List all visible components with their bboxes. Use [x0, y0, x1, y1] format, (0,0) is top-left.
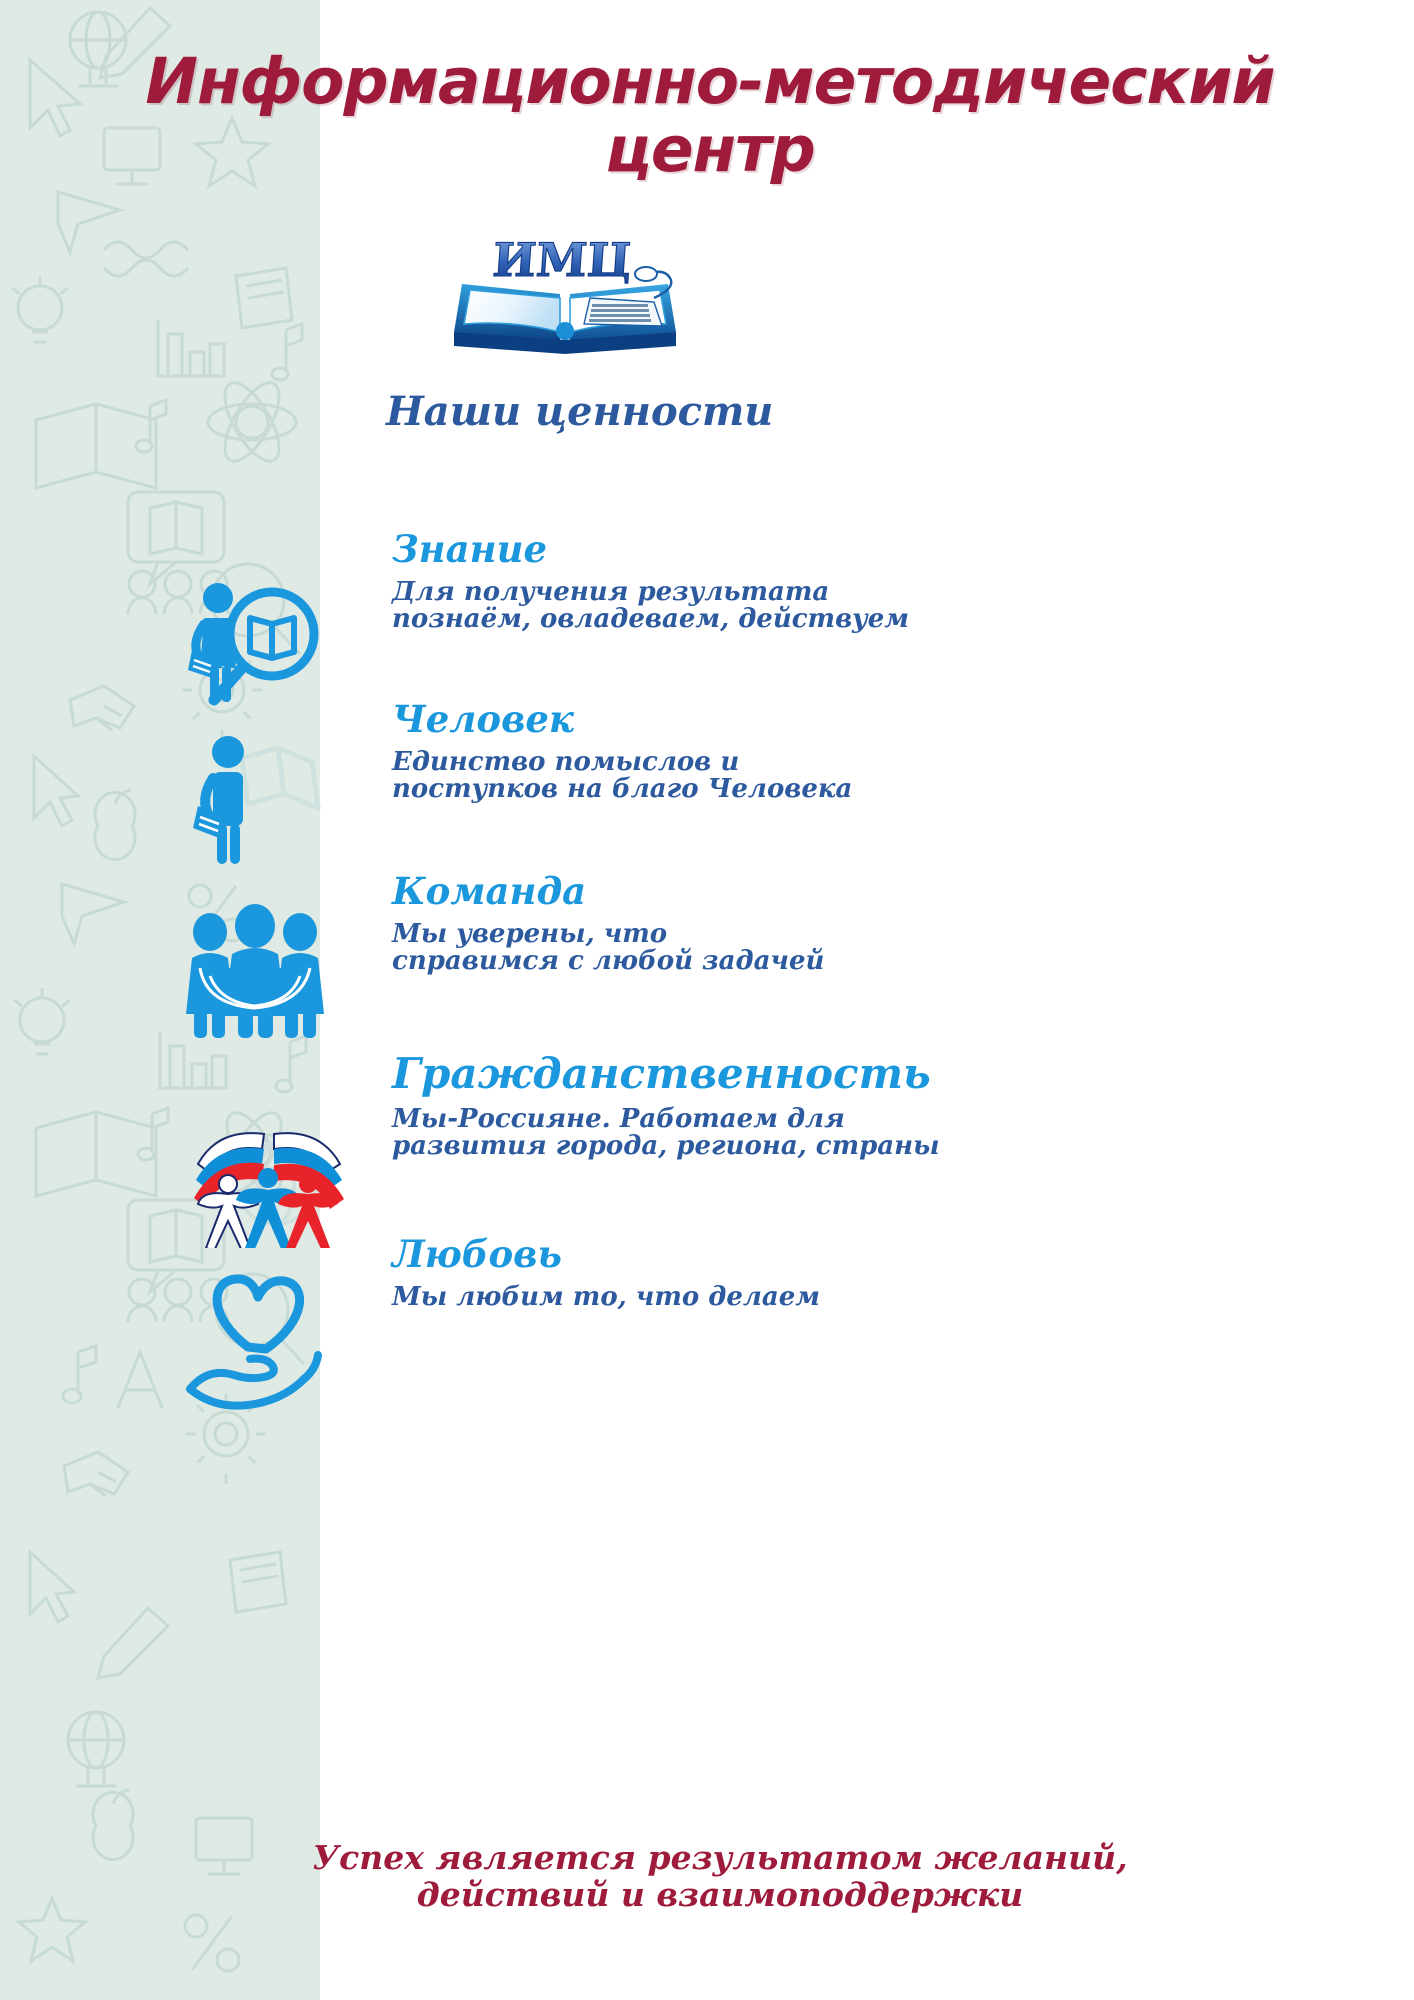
- student-with-book-magnifier-icon: [180, 572, 330, 712]
- value-desc-grazhdanstvennost-line-1: Мы-Россияне. Работаем для: [392, 1106, 1292, 1133]
- value-desc-znanie-line-2: познаём, овладеваем, действуем: [392, 606, 1292, 633]
- value-title-grazhdanstvennost: Гражданственность: [392, 1052, 1292, 1096]
- heart-in-hand-icon: [180, 1271, 330, 1411]
- russian-flag-people-icon: [184, 1098, 354, 1248]
- value-desc-lyubov-line-1: Мы любим то, что делаем: [392, 1284, 1292, 1311]
- value-desc-grazhdanstvennost: Мы-Россияне. Работаем для развития город…: [392, 1106, 1292, 1160]
- poster-title: Информационно-методический центр: [90, 48, 1330, 184]
- value-desc-komanda-line-1: Мы уверены, что: [392, 921, 1292, 948]
- value-desc-znanie-line-1: Для получения результата: [392, 579, 1292, 606]
- imc-logo: ИМЦ: [440, 228, 690, 358]
- footer-line-2: действий и взаимоподдержки: [140, 1877, 1300, 1914]
- value-desc-chelovek-line-2: поступков на благо Человека: [392, 776, 1292, 803]
- values-section-heading: Наши ценности: [386, 388, 773, 435]
- value-desc-komanda: Мы уверены, что справимся с любой задаче…: [392, 921, 1292, 975]
- poster-footer: Успех является результатом желаний, дейс…: [140, 1840, 1300, 1914]
- poster-root: Информационно-методический центр: [0, 0, 1414, 2000]
- value-title-znanie: Знание: [392, 530, 1292, 569]
- value-text-znanie: Знание Для получения результата познаём,…: [392, 530, 1292, 632]
- value-text-komanda: Команда Мы уверены, что справимся с любо…: [392, 872, 1292, 974]
- value-desc-chelovek: Единство помыслов и поступков на благо Ч…: [392, 749, 1292, 803]
- value-desc-komanda-line-2: справимся с любой задачей: [392, 948, 1292, 975]
- value-desc-znanie: Для получения результата познаём, овладе…: [392, 579, 1292, 633]
- poster-title-line-1: Информационно-методический: [90, 48, 1330, 116]
- value-text-chelovek: Человек Единство помыслов и поступков на…: [392, 700, 1292, 802]
- footer-line-1: Успех является результатом желаний,: [140, 1840, 1300, 1877]
- value-desc-grazhdanstvennost-line-2: развития города, региона, страны: [392, 1133, 1292, 1160]
- person-with-book-icon: [180, 728, 330, 868]
- value-title-chelovek: Человек: [392, 700, 1292, 739]
- poster-title-line-2: центр: [90, 116, 1330, 184]
- value-text-grazhdanstvennost: Гражданственность Мы-Россияне. Работаем …: [392, 1052, 1292, 1160]
- value-text-lyubov: Любовь Мы любим то, что делаем: [392, 1235, 1292, 1311]
- three-people-team-icon: [180, 898, 330, 1038]
- value-desc-lyubov: Мы любим то, что делаем: [392, 1284, 1292, 1311]
- value-title-lyubov: Любовь: [392, 1235, 1292, 1274]
- value-desc-chelovek-line-1: Единство помыслов и: [392, 749, 1292, 776]
- value-title-komanda: Команда: [392, 872, 1292, 911]
- logo-letters: ИМЦ: [491, 233, 634, 287]
